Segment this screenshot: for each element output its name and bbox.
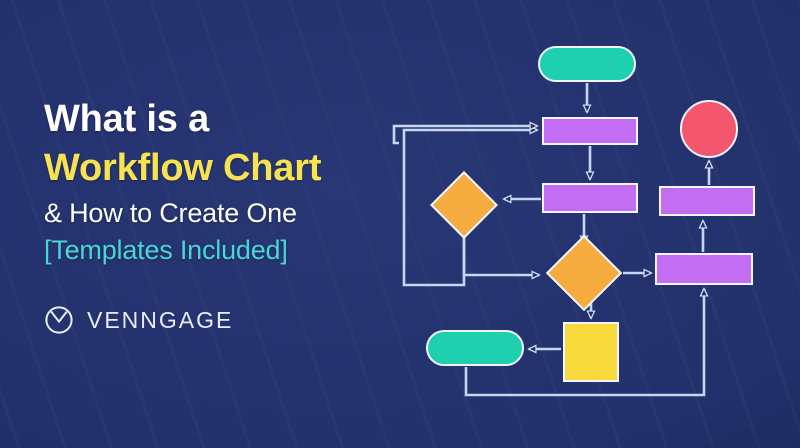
flow-node-terminator-end [426,330,524,366]
flow-node-process-2 [542,183,638,213]
flow-node-process-4 [655,253,753,285]
flow-node-start [538,46,636,82]
decision-1-shape [430,171,498,239]
headline-line-3: & How to Create One [44,200,374,227]
flow-node-decision-2 [557,246,611,300]
brand-name-text: VENNGAGE [87,307,233,334]
headline-block: What is a Workflow Chart & How to Create… [44,100,374,264]
flow-node-decision-1 [440,181,488,229]
flow-node-process-1 [542,117,638,145]
headline-line-1: What is a [44,100,374,138]
decision-2-shape [546,235,622,311]
brand-lockup: VENNGAGE [44,305,233,335]
poster-canvas: What is a Workflow Chart & How to Create… [0,0,800,448]
flow-node-process-3 [659,186,755,216]
flow-node-data-store [563,322,619,382]
headline-line-2: Workflow Chart [44,149,374,187]
headline-line-4: [Templates Included] [44,237,374,264]
flow-node-end-circle [680,100,738,158]
venngage-circle-logo-icon [44,305,74,335]
